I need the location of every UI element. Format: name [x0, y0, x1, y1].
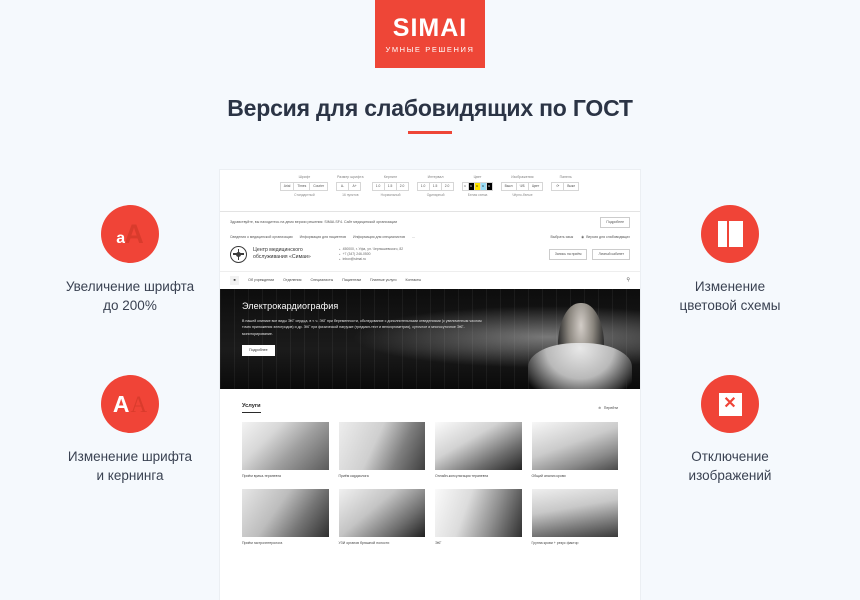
- language-selector[interactable]: Выбрать язык: [551, 235, 574, 239]
- a11y-group-font: Шрифт Arial Times Courier Стандартный: [281, 175, 328, 197]
- home-icon[interactable]: ■: [230, 276, 239, 285]
- feature-font-size: aA Увеличение шрифта до 200%: [30, 205, 230, 315]
- a11y-group-color-title: Цвет: [463, 175, 493, 179]
- a11y-font-arial[interactable]: Arial: [280, 182, 295, 191]
- font-family-icon-sans-letter: A: [113, 393, 130, 416]
- hero-description: В нашей клинике все виды ЭКГ сердца, в т…: [242, 318, 482, 337]
- a11y-font-size-increase[interactable]: A+: [348, 182, 361, 191]
- a11y-images-bw[interactable]: Ч/Б: [516, 182, 529, 191]
- a11y-group-panel: Панель ⟳ Выкл: [552, 175, 579, 193]
- util-link-org-info[interactable]: Сведения о медицинской организации: [230, 235, 293, 239]
- feature-disable-images: ✕ Отключение изображений: [630, 375, 830, 485]
- service-thumbnail: [532, 489, 619, 537]
- service-card[interactable]: Приём врача-терапевта: [242, 422, 329, 479]
- hero-details-button[interactable]: Подробнее: [242, 345, 275, 356]
- service-card[interactable]: Приём гастроэнтеролога: [242, 489, 329, 546]
- util-link-patients[interactable]: Информация для пациентов: [300, 235, 346, 239]
- service-thumbnail: [339, 489, 426, 537]
- services-title: Услуги: [242, 403, 261, 413]
- service-thumbnail: [435, 489, 522, 537]
- a11y-font-times[interactable]: Times: [293, 182, 310, 191]
- a11y-group-color: Цвет C C C C C Белая схема: [463, 175, 493, 197]
- service-caption: Онлайн-консультация терапевта: [435, 474, 522, 479]
- simai-logo[interactable]: SIMAI УМНЫЕ РЕШЕНИЯ: [375, 0, 485, 68]
- a11y-group-line-height: Интервал 1.0 1.5 2.0 Одинарный: [418, 175, 454, 197]
- page-title: Версия для слабовидящих по ГОСТ: [0, 95, 860, 122]
- service-thumbnail: [242, 422, 329, 470]
- a11y-group-line-height-title: Интервал: [418, 175, 454, 179]
- nav-item-about[interactable]: Об учреждении: [248, 278, 274, 282]
- service-thumbnail: [339, 422, 426, 470]
- service-card[interactable]: Онлайн-консультация терапевта: [435, 422, 522, 479]
- a11y-group-font-title: Шрифт: [281, 175, 328, 179]
- site-preview: Шрифт Arial Times Courier Стандартный Ра…: [220, 170, 640, 600]
- accessibility-toolbar: Шрифт Arial Times Courier Стандартный Ра…: [220, 170, 640, 212]
- a11y-group-font-size: Размер шрифта A- A+ 16 пунктов: [337, 175, 364, 197]
- font-size-icon-big-letter: A: [124, 221, 144, 248]
- nav-item-contacts[interactable]: Контакты: [406, 278, 422, 282]
- a11y-group-images-title: Изображения: [502, 175, 544, 179]
- nav-item-specialists[interactable]: Специалисты: [311, 278, 334, 282]
- a11y-font-courier[interactable]: Courier: [309, 182, 328, 191]
- appointment-button[interactable]: Запись на приём: [549, 249, 588, 260]
- font-size-icon: aA: [101, 205, 159, 263]
- feature-color-scheme: Изменение цветовой схемы: [630, 205, 830, 315]
- service-card[interactable]: Группа крови + резус фактор: [532, 489, 619, 546]
- demo-notice-text: Здравствуйте, вы находитесь на демо верс…: [230, 220, 397, 224]
- a11y-group-kerning: Кернинг 1.0 1.5 2.0 Нормальный: [373, 175, 409, 197]
- a11y-images-off[interactable]: Выкл: [501, 182, 517, 191]
- service-caption: Группа крови + резус фактор: [532, 541, 619, 546]
- feature-disable-images-line2: изображений: [630, 466, 830, 485]
- feature-font-family-line2: и кернинга: [30, 466, 230, 485]
- contact-email[interactable]: inbox@simai.ru: [339, 257, 403, 262]
- no-images-icon-box: ✕: [719, 393, 742, 416]
- logo-header: SIMAI УМНЫЕ РЕШЕНИЯ: [0, 0, 860, 72]
- service-caption: Общий анализ крови: [532, 474, 619, 479]
- org-name-line1: Центр медицинского: [253, 247, 311, 254]
- nav-item-patients[interactable]: Пациентам: [342, 278, 361, 282]
- nav-item-paid-services[interactable]: Платные услуги: [370, 278, 397, 282]
- feature-font-size-line1: Увеличение шрифта: [30, 277, 230, 296]
- color-scheme-icon-right-bar: [729, 221, 743, 247]
- a11y-group-images-note: Чёрно-белые: [502, 193, 544, 197]
- accessibility-toggle[interactable]: Версия для слабовидящих: [581, 235, 630, 239]
- title-underline: [408, 131, 452, 134]
- a11y-panel-off[interactable]: Выкл: [563, 182, 579, 191]
- a11y-group-color-note: Белая схема: [463, 193, 493, 197]
- medical-cross-logo-icon: [230, 246, 247, 263]
- a11y-kerning-3[interactable]: 2.0: [396, 182, 409, 191]
- hero-banner: Электрокардиография В нашей клинике все …: [220, 289, 640, 389]
- a11y-group-panel-title: Панель: [552, 175, 579, 179]
- service-thumbnail: [435, 422, 522, 470]
- service-thumbnail: [242, 489, 329, 537]
- a11y-group-line-height-note: Одинарный: [418, 193, 454, 197]
- service-caption: Приём кардиолога: [339, 474, 426, 479]
- a11y-images-color[interactable]: Цвет: [528, 182, 543, 191]
- a11y-group-kerning-title: Кернинг: [373, 175, 409, 179]
- a11y-group-font-size-title: Размер шрифта: [337, 175, 364, 179]
- search-icon[interactable]: ⚲: [626, 277, 630, 283]
- logo-wordmark: SIMAI: [393, 16, 467, 41]
- main-navigation: ■ Об учреждении Отделения Специалисты Па…: [220, 271, 640, 289]
- hero-title: Электрокардиография: [242, 301, 482, 311]
- logo-tagline: УМНЫЕ РЕШЕНИЯ: [385, 46, 474, 54]
- services-more-link[interactable]: Перейти: [598, 406, 618, 410]
- font-family-icon: AA: [101, 375, 159, 433]
- org-name-line2: обслуживания «Симаи»: [253, 254, 311, 261]
- service-card[interactable]: ЭКГ: [435, 489, 522, 546]
- feature-font-family-line1: Изменение шрифта: [30, 447, 230, 466]
- service-caption: Приём врача-терапевта: [242, 474, 329, 479]
- util-link-more[interactable]: ...: [412, 235, 415, 239]
- service-card[interactable]: Общий анализ крови: [532, 422, 619, 479]
- feature-font-size-line2: до 200%: [30, 296, 230, 315]
- util-link-specialists[interactable]: Информация для специалистов: [353, 235, 405, 239]
- services-grid: Приём врача-терапевта Приём кардиолога О…: [242, 422, 618, 546]
- contact-block: 450000, г. Уфа, ул. Чернышевского, 82 +7…: [339, 247, 403, 262]
- service-caption: ЭКГ: [435, 541, 522, 546]
- demo-notice-row: Здравствуйте, вы находитесь на демо верс…: [230, 217, 630, 228]
- service-thumbnail: [532, 422, 619, 470]
- no-images-icon: ✕: [701, 375, 759, 433]
- service-card[interactable]: УЗИ органов брюшной полости: [339, 489, 426, 546]
- color-scheme-icon: [701, 205, 759, 263]
- site-brand-row: Центр медицинского обслуживания «Симаи» …: [230, 246, 630, 263]
- personal-account-button[interactable]: Личный кабинет: [592, 249, 630, 260]
- font-family-icon-serif-letter: A: [131, 393, 148, 416]
- feature-color-scheme-line1: Изменение: [630, 277, 830, 296]
- service-caption: УЗИ органов брюшной полости: [339, 541, 426, 546]
- a11y-group-font-size-note: 16 пунктов: [337, 193, 364, 197]
- nav-item-departments[interactable]: Отделения: [283, 278, 301, 282]
- feature-font-family: AA Изменение шрифта и кернинга: [30, 375, 230, 485]
- a11y-line-height-3[interactable]: 2.0: [441, 182, 454, 191]
- color-scheme-icon-left-bar: [718, 221, 727, 247]
- service-caption: Приём гастроэнтеролога: [242, 541, 329, 546]
- medical-cross-logo-center: [236, 252, 241, 257]
- demo-details-button[interactable]: Подробнее: [600, 217, 630, 228]
- a11y-group-images: Изображения Выкл Ч/Б Цвет Чёрно-белые: [502, 175, 544, 197]
- site-header: Здравствуйте, вы находитесь на демо верс…: [220, 212, 640, 263]
- utility-nav-row: Сведения о медицинской организации Инфор…: [230, 235, 630, 239]
- feature-disable-images-line1: Отключение: [630, 447, 830, 466]
- service-card[interactable]: Приём кардиолога: [339, 422, 426, 479]
- a11y-color-swatch-dark[interactable]: C: [486, 182, 493, 191]
- feature-color-scheme-line2: цветовой схемы: [630, 296, 830, 315]
- services-section: Услуги Перейти Приём врача-терапевта При…: [220, 389, 640, 546]
- a11y-group-font-note: Стандартный: [281, 193, 328, 197]
- close-icon: ✕: [723, 396, 736, 412]
- hero-doctor-coat: [528, 343, 632, 389]
- a11y-group-kerning-note: Нормальный: [373, 193, 409, 197]
